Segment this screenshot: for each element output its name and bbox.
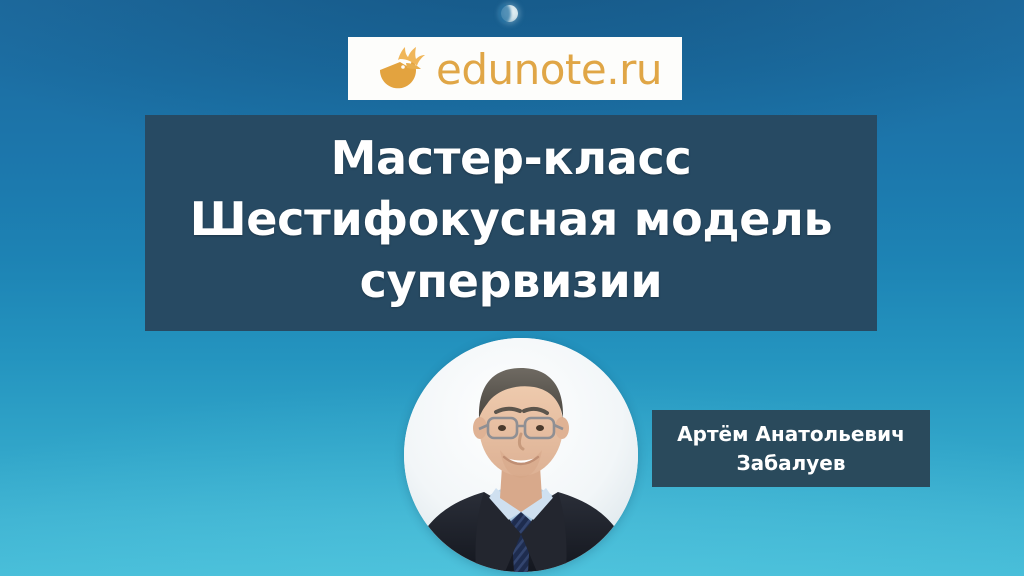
speaker-name-line-2: Забалуев (736, 449, 845, 478)
presentation-slide: edunote.ru Мастер-класс Шестифокусная мо… (0, 0, 1024, 576)
speaker-name-line-1: Артём Анатольевич (677, 420, 905, 449)
title-line-2: Шестифокусная модель (190, 189, 833, 250)
moon-icon (501, 5, 518, 22)
fox-logo-icon (376, 46, 430, 92)
title-line-3: супервизии (360, 251, 663, 312)
title-line-1: Мастер-класс (331, 128, 692, 189)
speaker-name-badge: Артём Анатольевич Забалуев (652, 410, 930, 487)
brand-wordmark: edunote.ru (436, 49, 662, 91)
speaker-portrait (404, 338, 638, 572)
slide-title-panel: Мастер-класс Шестифокусная модель суперв… (145, 115, 877, 331)
brand-logo-plate[interactable]: edunote.ru (348, 37, 682, 100)
speaker-portrait-image (404, 338, 638, 572)
